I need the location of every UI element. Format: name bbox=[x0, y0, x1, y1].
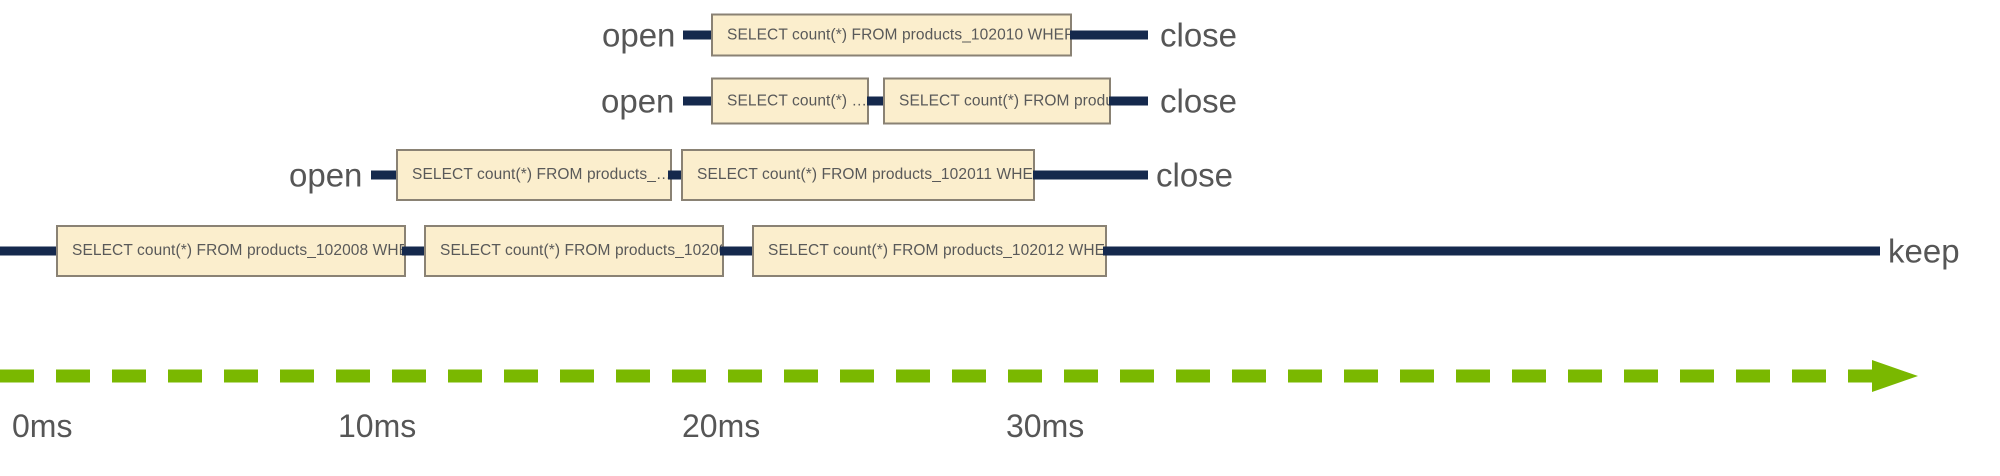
keep-label: keep bbox=[1888, 235, 1960, 268]
time-axis-arrowhead bbox=[1872, 360, 1918, 392]
query-text: SELECT count(*) FROM products_102010 WHE… bbox=[727, 26, 1072, 44]
open-label: open bbox=[601, 85, 674, 118]
connection-line-segment bbox=[683, 97, 713, 106]
close-label: close bbox=[1160, 85, 1237, 118]
query-box[interactable]: SELECT count(*) FROM products_102009 .. bbox=[424, 225, 724, 277]
axis-tick-label: 20ms bbox=[682, 410, 760, 442]
query-text: SELECT count(*) FROM products_102011 WHE… bbox=[697, 166, 1035, 184]
query-text: SELECT count(*) FROM products_102012 WHE… bbox=[768, 242, 1107, 260]
query-text: SELECT count(*) FROM products_102009 .. bbox=[440, 242, 724, 260]
query-text: SELECT count(*) … bbox=[727, 92, 867, 110]
timeline-diagram: open SELECT count(*) FROM products_10201… bbox=[0, 0, 2000, 476]
timeline-row: open SELECT count(*) … SELECT count(*) F… bbox=[0, 66, 2000, 136]
query-box[interactable]: SELECT count(*) FROM products_102012 WHE… bbox=[752, 225, 1107, 277]
query-box[interactable]: SELECT count(*) … bbox=[711, 78, 869, 125]
axis-tick-label: 30ms bbox=[1006, 410, 1084, 442]
connection-line-segment bbox=[1033, 171, 1148, 180]
open-label: open bbox=[289, 159, 362, 192]
connection-line-segment bbox=[683, 31, 713, 40]
timeline-row: open SELECT count(*) FROM products_10201… bbox=[0, 0, 2000, 70]
connection-line-segment bbox=[1109, 97, 1148, 106]
query-box[interactable]: SELECT count(*) FROM products_… bbox=[396, 149, 672, 201]
connection-line-segment bbox=[0, 247, 60, 256]
connection-line-segment bbox=[1103, 247, 1880, 256]
query-box[interactable]: SELECT count(*) FROM products_102010 WHE… bbox=[711, 14, 1072, 57]
query-box[interactable]: SELECT count(*) FROM produc bbox=[883, 78, 1111, 125]
axis-tick-label: 0ms bbox=[12, 410, 72, 442]
close-label: close bbox=[1156, 159, 1233, 192]
query-box[interactable]: SELECT count(*) FROM products_102008 WHE… bbox=[56, 225, 406, 277]
connection-line-segment bbox=[720, 247, 756, 256]
query-box[interactable]: SELECT count(*) FROM products_102011 WHE… bbox=[681, 149, 1035, 201]
timeline-row: open SELECT count(*) FROM products_… SEL… bbox=[0, 140, 2000, 210]
close-label: close bbox=[1160, 19, 1237, 52]
query-text: SELECT count(*) FROM produc bbox=[899, 92, 1111, 110]
connection-line-segment bbox=[1070, 31, 1148, 40]
open-label: open bbox=[602, 19, 675, 52]
axis-tick-label: 10ms bbox=[338, 410, 416, 442]
timeline-row: SELECT count(*) FROM products_102008 WHE… bbox=[0, 216, 2000, 286]
time-axis-arrow bbox=[0, 352, 2000, 400]
query-text: SELECT count(*) FROM products_… bbox=[412, 166, 672, 184]
query-text: SELECT count(*) FROM products_102008 WHE… bbox=[72, 242, 406, 260]
